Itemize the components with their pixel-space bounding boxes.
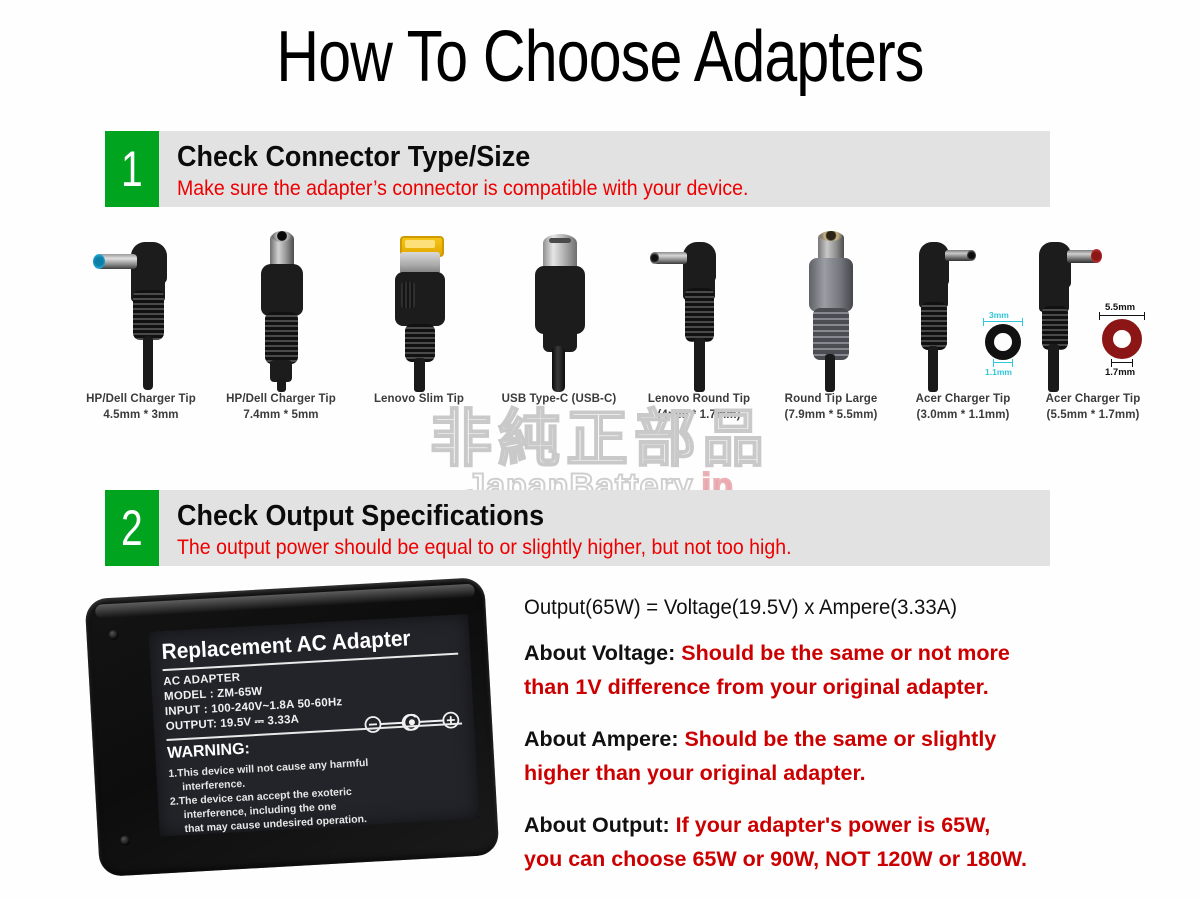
adapter-label-title: Replacement AC Adapter xyxy=(161,624,447,664)
usb-type-c-plug-icon xyxy=(493,228,625,390)
spec-formula-block: Output(65W) = Voltage(19.5V) x Ampere(3.… xyxy=(524,592,1104,623)
connector-item-1: HP/Dell Charger Tip 7.4mm * 5mm xyxy=(215,228,347,443)
straight-barrel-plug-icon xyxy=(215,228,347,390)
adapter-label-panel: Replacement AC Adapter AC ADAPTER MODEL … xyxy=(148,614,479,837)
about-output-key: About Output: xyxy=(524,813,670,837)
screw-hole-top xyxy=(108,630,119,641)
adapter-gloss xyxy=(95,584,475,619)
connector-name-1: HP/Dell Charger Tip xyxy=(226,393,336,405)
connector-name-2: Lenovo Slim Tip xyxy=(374,393,464,405)
adapter-warning-list: 1.This device will not cause any harmful… xyxy=(168,750,467,836)
step-1-number: 1 xyxy=(121,144,143,194)
adapter-body: Replacement AC Adapter AC ADAPTER MODEL … xyxy=(85,577,500,877)
connector-label-2: Lenovo Slim Tip xyxy=(341,391,497,407)
connector-item-3: USB Type-C (USB-C) xyxy=(493,228,625,443)
step-2-header: 2 Check Output Specifications The output… xyxy=(105,490,1050,566)
connector-label-1: HP/Dell Charger Tip 7.4mm * 5mm xyxy=(203,391,359,423)
about-output-text1: If your adapter's power is 65W, xyxy=(670,813,991,837)
connector-gallery: HP/Dell Charger Tip 4.5mm * 3mm HP/Dell … xyxy=(75,228,1130,443)
right-angle-plug-with-red-ring-diagram-icon: 5.5mm 1.7mm xyxy=(1027,228,1159,390)
connector-name-4: Lenovo Round Tip xyxy=(648,393,750,405)
dimension-outer-label-0: 3mm xyxy=(989,310,1009,320)
connector-item-5: Round Tip Large (7.9mm * 5.5mm) xyxy=(765,228,897,443)
dimension-outer-label-1: 5.5mm xyxy=(1105,302,1135,313)
dimension-inner-label-0: 1.1mm xyxy=(985,367,1012,377)
step-1-header: 1 Check Connector Type/Size Make sure th… xyxy=(105,131,1050,207)
step-2-text-group: Check Output Specifications The output p… xyxy=(159,490,1050,566)
connector-item-7: 5.5mm 1.7mm Acer Charger Tip (5.5mm * 1.… xyxy=(1027,228,1159,443)
about-voltage-text2: than 1V difference from your original ad… xyxy=(524,675,989,699)
about-ampere-key: About Ampere: xyxy=(524,727,678,751)
connector-name-5: Round Tip Large xyxy=(785,393,878,405)
about-output-text2: you can choose 65W or 90W, NOT 120W or 1… xyxy=(524,847,1027,871)
step-2-badge: 2 xyxy=(105,490,159,566)
connector-size-0: 4.5mm * 3mm xyxy=(63,407,219,423)
connector-name-3: USB Type-C (USB-C) xyxy=(502,393,617,405)
dimension-diagram-0: 3mm 1.1mm xyxy=(977,310,1029,378)
adapter-warning-heading: WARNING: xyxy=(167,740,251,763)
connector-item-6: 3mm 1.1mm Acer Charger Tip (3.0mm * 1.1m… xyxy=(897,228,1029,443)
connector-item-0: HP/Dell Charger Tip 4.5mm * 3mm xyxy=(75,228,207,443)
about-voltage-text1: Should be the same or not more xyxy=(675,641,1010,665)
connector-name-6: Acer Charger Tip xyxy=(916,393,1011,405)
output-formula: Output(65W) = Voltage(19.5V) x Ampere(3.… xyxy=(524,592,1087,623)
connector-size-1: 7.4mm * 5mm xyxy=(203,407,359,423)
spec-ampere-block: About Ampere: Should be the same or slig… xyxy=(524,722,1104,790)
dimension-inner-label-1: 1.7mm xyxy=(1105,367,1135,378)
connector-label-3: USB Type-C (USB-C) xyxy=(481,391,637,407)
connector-size-7: (5.5mm * 1.7mm) xyxy=(1015,407,1171,423)
step-1-text-group: Check Connector Type/Size Make sure the … xyxy=(159,131,1050,207)
spec-voltage-block: About Voltage: Should be the same or not… xyxy=(524,636,1104,704)
step-2-subtitle: The output power should be equal to or s… xyxy=(177,535,989,561)
gray-straight-round-plug-icon xyxy=(765,228,897,390)
about-ampere-text2: higher than your original adapter. xyxy=(524,761,866,785)
screw-hole-bottom xyxy=(120,835,131,846)
ac-adapter-photo: Replacement AC Adapter AC ADAPTER MODEL … xyxy=(88,574,508,889)
dimension-diagram-1: 5.5mm 1.7mm xyxy=(1093,302,1155,382)
right-angle-plug-with-black-ring-diagram-icon: 3mm 1.1mm xyxy=(897,228,1029,390)
about-output: About Output: If your adapter's power is… xyxy=(524,808,1104,876)
connector-label-0: HP/Dell Charger Tip 4.5mm * 3mm xyxy=(63,391,219,423)
step-2-number: 2 xyxy=(121,503,143,553)
step-1-title: Check Connector Type/Size xyxy=(177,141,989,174)
about-voltage: About Voltage: Should be the same or not… xyxy=(524,636,1104,704)
spec-output-block: About Output: If your adapter's power is… xyxy=(524,808,1104,876)
infographic-page: How To Choose Adapters 1 Check Connector… xyxy=(0,0,1200,900)
about-ampere: About Ampere: Should be the same or slig… xyxy=(524,722,1104,790)
right-angle-barrel-plug-blue-tip-icon xyxy=(75,228,207,390)
step-1-badge: 1 xyxy=(105,131,159,207)
step-2-title: Check Output Specifications xyxy=(177,500,989,533)
page-title: How To Choose Adapters xyxy=(108,16,1092,98)
step-1-subtitle: Make sure the adapter’s connector is com… xyxy=(177,176,989,202)
connector-item-4: Lenovo Round Tip (4mm * 1.7mm) xyxy=(633,228,765,443)
connector-item-2: Lenovo Slim Tip xyxy=(353,228,485,443)
about-ampere-text1: Should be the same or slightly xyxy=(678,727,996,751)
connector-name-0: HP/Dell Charger Tip xyxy=(86,393,196,405)
lenovo-slim-rectangular-yellow-tip-icon xyxy=(353,228,485,390)
about-voltage-key: About Voltage: xyxy=(524,641,675,665)
right-angle-round-plug-icon xyxy=(633,228,765,390)
polarity-symbol-icon xyxy=(363,711,460,734)
connector-name-7: Acer Charger Tip xyxy=(1046,393,1141,405)
connector-label-7: Acer Charger Tip (5.5mm * 1.7mm) xyxy=(1015,391,1171,423)
